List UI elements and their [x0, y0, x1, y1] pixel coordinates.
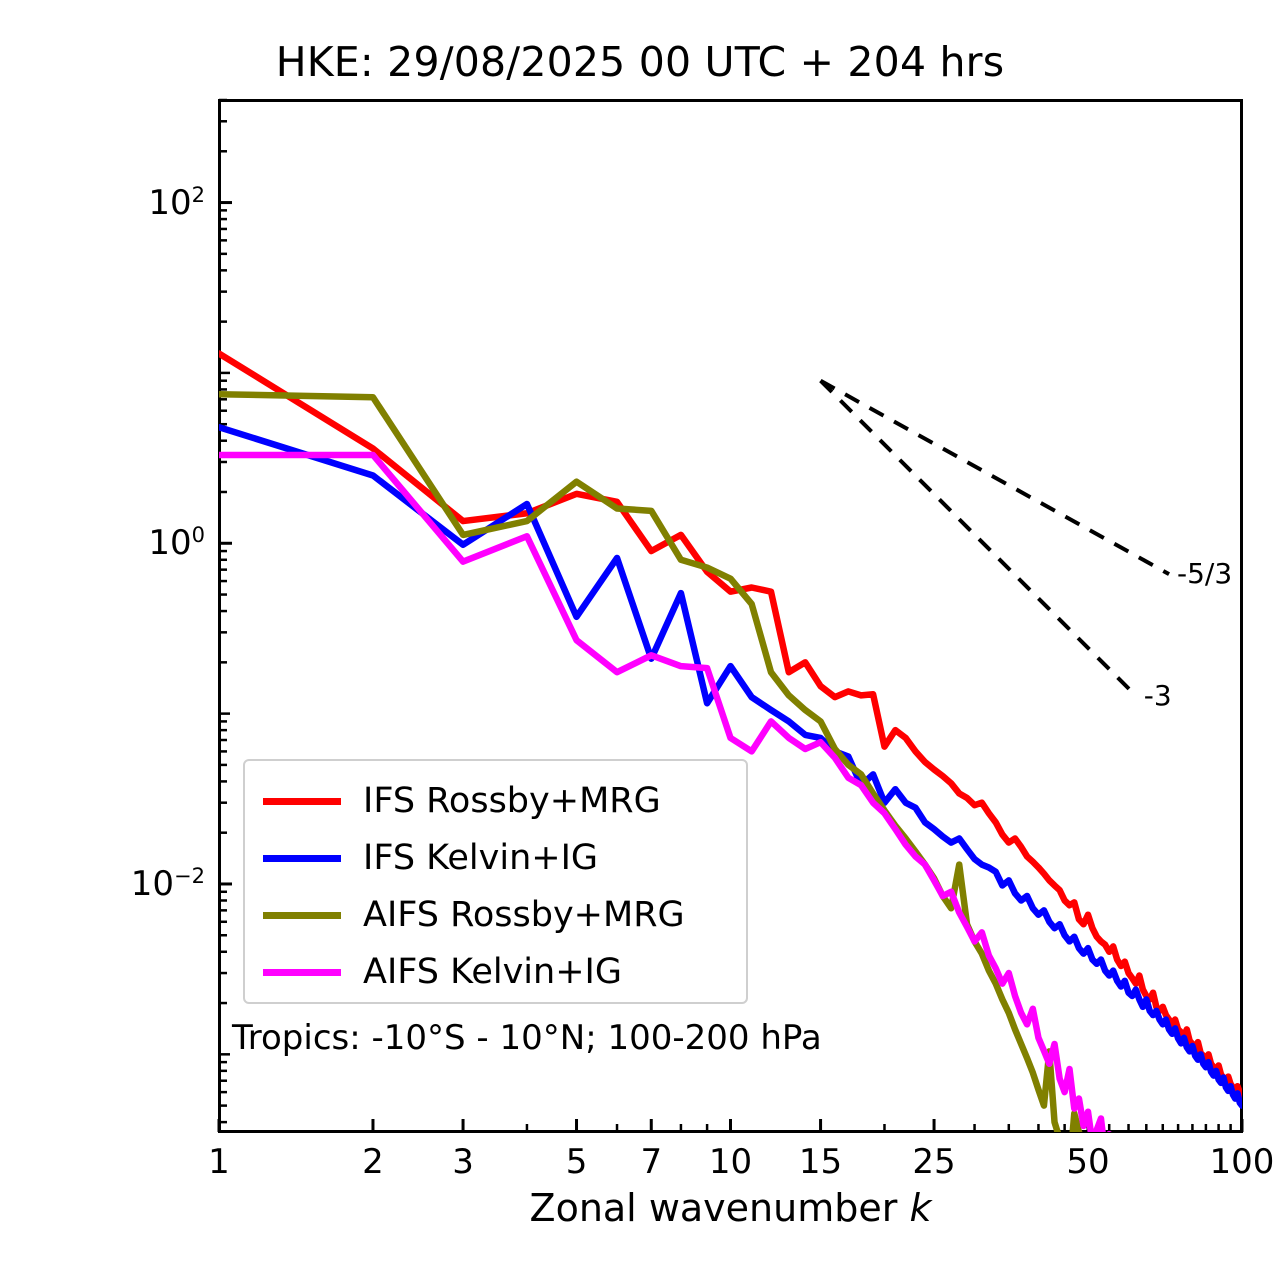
- y-tick-label: 102: [60, 182, 205, 222]
- legend-item[interactable]: AIFS Rossby+MRG: [245, 887, 746, 944]
- legend-item[interactable]: IFS Rossby+MRG: [245, 773, 746, 830]
- y-tick-label: 10−2: [60, 864, 205, 904]
- x-axis-label: Zonal wavenumber k: [218, 1186, 1243, 1230]
- legend-color-swatch: [263, 912, 341, 919]
- x-tick-label: 2: [362, 1142, 384, 1182]
- x-tick-label: 5: [566, 1142, 588, 1182]
- x-tick-label: 10: [709, 1142, 752, 1182]
- legend-label: IFS Kelvin+IG: [363, 841, 598, 876]
- x-tick-label: 50: [1066, 1142, 1109, 1182]
- x-tick-label: 7: [640, 1142, 662, 1182]
- slope-label-53: -5/3: [1177, 557, 1232, 590]
- legend-item[interactable]: AIFS Kelvin+IG: [245, 944, 746, 1001]
- page-title: HKE: 29/08/2025 00 UTC + 204 hrs: [0, 38, 1280, 86]
- legend-color-swatch: [263, 855, 341, 862]
- x-tick-label: 1: [208, 1142, 230, 1182]
- y-tick-label: 100: [60, 523, 205, 563]
- legend-color-swatch: [263, 969, 341, 976]
- legend-item[interactable]: IFS Kelvin+IG: [245, 830, 746, 887]
- legend-color-swatch: [263, 798, 341, 805]
- figure-canvas: HKE: 29/08/2025 00 UTC + 204 hrs Horizon…: [0, 0, 1280, 1288]
- legend: IFS Rossby+MRGIFS Kelvin+IGAIFS Rossby+M…: [243, 759, 748, 1004]
- legend-label: AIFS Kelvin+IG: [363, 955, 622, 990]
- legend-label: AIFS Rossby+MRG: [363, 898, 685, 933]
- x-tick-label: 100: [1210, 1142, 1275, 1182]
- tropics-annotation: Tropics: -10°S - 10°N; 100-200 hPa: [232, 1018, 822, 1058]
- legend-label: IFS Rossby+MRG: [363, 784, 661, 819]
- slope-label-3: -3: [1144, 679, 1172, 712]
- x-tick-label: 25: [912, 1142, 955, 1182]
- x-tick-label: 15: [799, 1142, 842, 1182]
- x-tick-label: 3: [452, 1142, 474, 1182]
